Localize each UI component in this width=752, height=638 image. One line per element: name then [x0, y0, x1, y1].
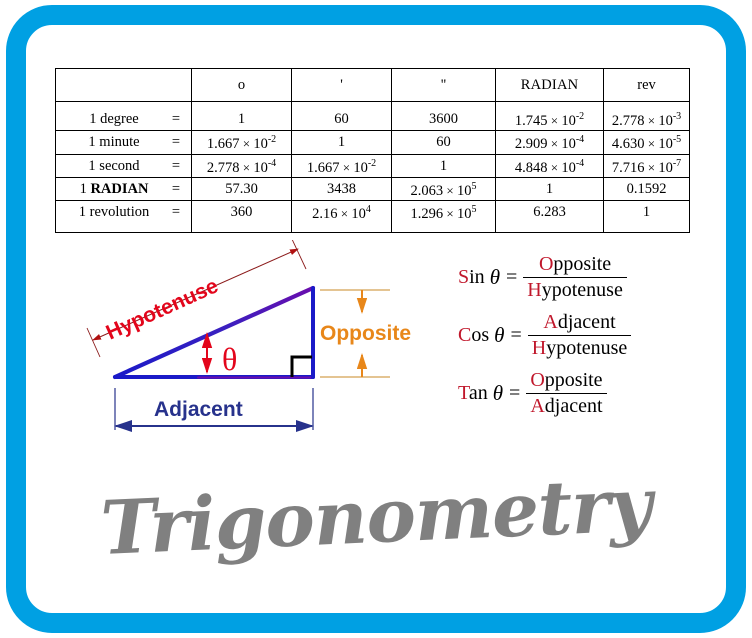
mnemonic-letter: A — [543, 311, 557, 333]
mnemonic-letter: A — [530, 395, 544, 417]
table-header: o ' '' RADIAN rev — [56, 69, 690, 102]
row-label-cell: 1 RADIAN= — [56, 177, 192, 200]
formula-cosine: Cosθ=AdjacentHypotenuse — [458, 306, 708, 364]
formula-equals-sign: = — [506, 266, 517, 289]
header-cell-blank — [56, 69, 192, 102]
mnemonic-letter: H — [527, 279, 541, 301]
mnemonic-letter: T — [458, 382, 469, 404]
table-cell-value: 1 — [496, 177, 604, 200]
adjacent-label: Adjacent — [154, 398, 243, 421]
numerator-rest: pposite — [545, 369, 603, 391]
multiplication-sign: × — [239, 136, 253, 151]
formula-equals-sign: = — [509, 382, 520, 405]
mnemonic-letter: S — [458, 266, 469, 288]
trigonometry-reference-page: o ' '' RADIAN rev 1 degree=16036001.745 … — [0, 0, 752, 638]
multiplication-sign: × — [644, 136, 658, 151]
mnemonic-letter: O — [539, 253, 553, 275]
multiplication-sign: × — [443, 183, 457, 198]
table-cell-value: 1.667 × 10-2 — [292, 154, 392, 177]
hypotenuse-extension-right — [291, 240, 306, 269]
right-angle-marker-icon — [292, 357, 312, 377]
row-label-cell: 1 degree= — [56, 102, 192, 131]
fraction-denominator: Adjacent — [526, 393, 606, 417]
trig-formula-list: Sinθ=OppositeHypotenuseCosθ=AdjacentHypo… — [458, 248, 708, 422]
table-header-row: o ' '' RADIAN rev — [56, 69, 690, 102]
multiplication-sign: × — [239, 159, 253, 174]
table-cell-value: 2.063 × 105 — [392, 177, 496, 200]
table-cell-value: 1 — [392, 154, 496, 177]
exponent: -5 — [673, 134, 681, 145]
header-cell-rev: rev — [604, 69, 690, 102]
multiplication-sign: × — [644, 159, 658, 174]
table-cell-value: 60 — [292, 102, 392, 131]
table-row: 1 minute=1.667 × 10-21602.909 × 10-44.63… — [56, 131, 690, 154]
table-cell-value: 3438 — [292, 177, 392, 200]
table-cell-value: 1.745 × 10-2 — [496, 102, 604, 131]
table-cell-value: 2.778 × 10-4 — [192, 154, 292, 177]
fraction-denominator: Hypotenuse — [523, 277, 627, 301]
table-row: 1 second=2.778 × 10-41.667 × 10-214.848 … — [56, 154, 690, 177]
table-cell-value: 1.667 × 10-2 — [192, 131, 292, 154]
row-equals-sign: = — [162, 110, 190, 129]
table-row: 1 revolution=3602.16 × 1041.296 × 1056.2… — [56, 201, 690, 232]
denominator-rest: djacent — [545, 395, 603, 417]
formula-tangent: Tanθ=OppositeAdjacent — [458, 364, 708, 422]
fraction-numerator: Adjacent — [539, 311, 619, 334]
angle-conversion-table: o ' '' RADIAN rev 1 degree=16036001.745 … — [55, 68, 689, 233]
table-cell-value: 3600 — [392, 102, 496, 131]
header-cell-radian: RADIAN — [496, 69, 604, 102]
formula-theta-symbol: θ — [491, 381, 507, 406]
table-row: 1 degree=16036001.745 × 10-22.778 × 10-3 — [56, 102, 690, 131]
table-row: 1 RADIAN=57.3034382.063 × 10510.1592 — [56, 177, 690, 200]
table-cell-value: 4.630 × 10-5 — [604, 131, 690, 154]
exponent: 4 — [366, 204, 371, 215]
multiplication-sign: × — [443, 206, 457, 221]
function-name-rest: in — [469, 266, 485, 288]
row-equals-sign: = — [162, 133, 190, 152]
mnemonic-letter: H — [532, 337, 546, 359]
multiplication-sign: × — [339, 159, 353, 174]
table-cell-value: 1.296 × 105 — [392, 201, 496, 232]
denominator-rest: ypotenuse — [542, 279, 623, 301]
table-cell-value: 1 — [604, 201, 690, 232]
table-body: 1 degree=16036001.745 × 10-22.778 × 10-3… — [56, 102, 690, 233]
table-cell-value: 6.283 — [496, 201, 604, 232]
formula-function-name: Cos — [458, 324, 489, 347]
table-cell-value: 4.848 × 10-4 — [496, 154, 604, 177]
formula-fraction: AdjacentHypotenuse — [528, 311, 632, 359]
header-cell-second: '' — [392, 69, 496, 102]
formula-sine: Sinθ=OppositeHypotenuse — [458, 248, 708, 306]
exponent: -2 — [576, 111, 584, 122]
multiplication-sign: × — [547, 113, 561, 128]
denominator-rest: ypotenuse — [546, 337, 627, 359]
table-cell-value: 60 — [392, 131, 496, 154]
exponent: -2 — [368, 158, 376, 169]
multiplication-sign: × — [547, 136, 561, 151]
formula-theta-symbol: θ — [492, 323, 508, 348]
row-label-text: 1 minute — [66, 133, 162, 152]
fraction-denominator: Hypotenuse — [528, 335, 632, 359]
hypotenuse-extension-left — [87, 328, 100, 357]
fraction-numerator: Opposite — [526, 369, 606, 392]
function-name-rest: os — [471, 324, 489, 346]
row-label-cell: 1 second= — [56, 154, 192, 177]
row-equals-sign: = — [162, 157, 190, 176]
exponent: -4 — [576, 134, 584, 145]
fraction-numerator: Opposite — [535, 253, 615, 276]
exponent: -3 — [673, 111, 681, 122]
formula-function-name: Tan — [458, 382, 488, 405]
function-name-rest: an — [469, 382, 488, 404]
exponent: -4 — [576, 158, 584, 169]
mnemonic-letter: O — [530, 369, 544, 391]
opposite-label: Opposite — [320, 322, 411, 345]
row-label-text: 1 degree — [66, 110, 162, 129]
table-cell-value: 360 — [192, 201, 292, 232]
table-cell-value: 2.778 × 10-3 — [604, 102, 690, 131]
theta-symbol: θ — [222, 341, 237, 377]
exponent: -2 — [268, 134, 276, 145]
multiplication-sign: × — [644, 113, 658, 128]
header-cell-degree: o — [192, 69, 292, 102]
exponent: 5 — [471, 181, 476, 192]
row-label-emphasis: RADIAN — [90, 181, 148, 197]
formula-fraction: OppositeHypotenuse — [523, 253, 627, 301]
formula-fraction: OppositeAdjacent — [526, 369, 606, 417]
triangle-hypotenuse-line — [115, 288, 313, 377]
conversion-table: o ' '' RADIAN rev 1 degree=16036001.745 … — [55, 68, 690, 233]
formula-function-name: Sin — [458, 266, 485, 289]
row-label-text: 1 second — [66, 157, 162, 176]
row-label-text: 1 RADIAN — [66, 180, 162, 199]
row-equals-sign: = — [162, 203, 190, 222]
table-cell-value: 2.16 × 104 — [292, 201, 392, 232]
table-cell-value: 1 — [192, 102, 292, 131]
header-cell-minute: ' — [292, 69, 392, 102]
table-cell-value: 57.30 — [192, 177, 292, 200]
hypotenuse-label: Hypotenuse — [103, 274, 222, 344]
multiplication-sign: × — [338, 206, 352, 221]
exponent: 5 — [471, 204, 476, 215]
table-cell-value: 7.716 × 10-7 — [604, 154, 690, 177]
numerator-rest: djacent — [558, 311, 616, 333]
exponent: -4 — [268, 158, 276, 169]
row-label-cell: 1 minute= — [56, 131, 192, 154]
row-label-text: 1 revolution — [66, 203, 162, 222]
exponent: -7 — [673, 158, 681, 169]
row-equals-sign: = — [162, 180, 190, 199]
formula-theta-symbol: θ — [488, 265, 504, 290]
right-triangle-diagram: Hypotenuse θ Opposite Adjacent — [70, 240, 440, 440]
formula-equals-sign: = — [510, 324, 521, 347]
numerator-rest: pposite — [553, 253, 611, 275]
table-cell-value: 1 — [292, 131, 392, 154]
table-cell-value: 2.909 × 10-4 — [496, 131, 604, 154]
table-cell-value: 0.1592 — [604, 177, 690, 200]
mnemonic-letter: C — [458, 324, 471, 346]
multiplication-sign: × — [547, 159, 561, 174]
row-label-cell: 1 revolution= — [56, 201, 192, 232]
